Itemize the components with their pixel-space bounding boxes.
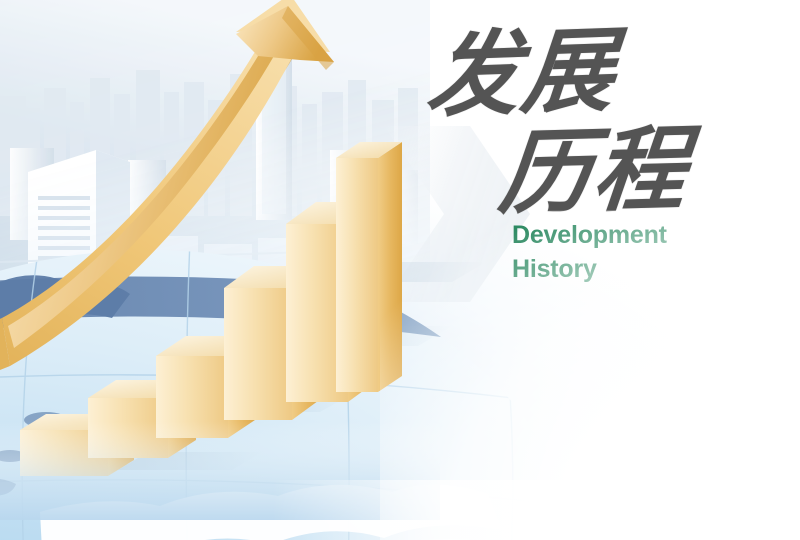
title-english-line1: Development [512,218,667,252]
title-english-line2: History [512,252,667,286]
banner-canvas: 发展 历程 Development History [0,0,800,540]
title-english: Development History [512,218,667,286]
title-chinese-line1: 发展 [424,25,620,123]
banner-title-block: 发展 历程 Development History [424,22,724,292]
title-chinese-line2: 历程 [495,124,692,221]
